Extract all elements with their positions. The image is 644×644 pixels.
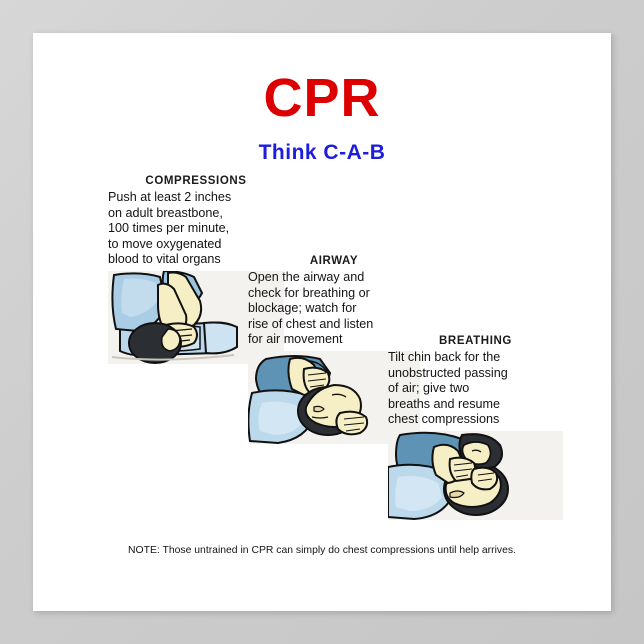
step-breathing-heading: BREATHING <box>388 335 563 347</box>
rescue-breathing-illustration <box>388 431 563 520</box>
poster-sheet: CPR Think C-A-B COMPRESSIONS Push at lea… <box>33 33 611 611</box>
step-breathing: BREATHING Tilt chin back for the unobstr… <box>388 335 563 520</box>
page-title: CPR <box>33 71 611 125</box>
poster-note: NOTE: Those untrained in CPR can simply … <box>33 545 611 556</box>
page-subtitle: Think C-A-B <box>33 141 611 165</box>
step-compressions-heading: COMPRESSIONS <box>108 175 284 187</box>
step-breathing-body: Tilt chin back for the unobstructed pass… <box>388 350 563 428</box>
poster-frame: CPR Think C-A-B COMPRESSIONS Push at lea… <box>0 0 644 644</box>
step-airway-heading: AIRWAY <box>248 255 420 267</box>
title-block: CPR Think C-A-B <box>33 71 611 165</box>
